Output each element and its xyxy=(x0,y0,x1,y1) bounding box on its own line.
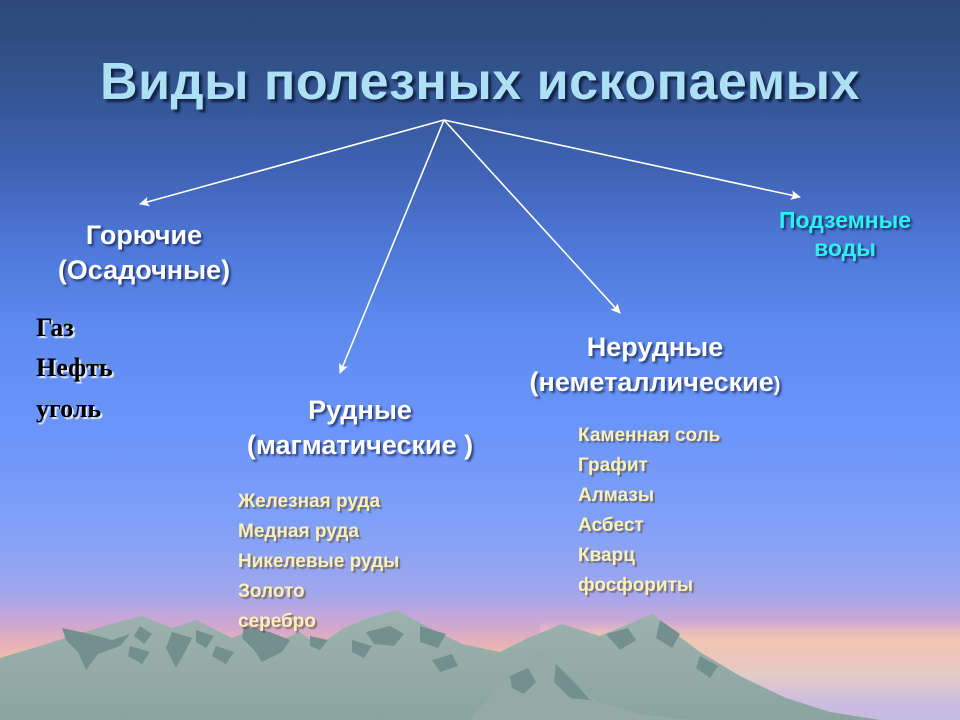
list-item: серебро xyxy=(238,607,399,637)
list-item: Никелевые руды xyxy=(238,547,399,577)
branch-heading-fuel-line2: (Осадочные) xyxy=(14,253,274,288)
branch-heading-nonore: Нерудные (неметаллические) xyxy=(490,330,820,399)
arrow-to-water xyxy=(444,120,800,197)
arrow-to-nonore xyxy=(444,120,620,313)
branch-heading-ore-line2: (магматические ) xyxy=(200,428,520,463)
branch-heading-fuel-line1: Горючие xyxy=(14,218,274,253)
list-item: Кварц xyxy=(578,541,720,571)
list-item: уголь xyxy=(36,389,113,429)
slide-title: Виды полезных ископаемых xyxy=(0,52,960,112)
branch-items-fuel: Газ Нефть уголь xyxy=(36,308,113,429)
branch-heading-nonore-line1: Нерудные xyxy=(490,330,820,365)
branch-heading-ore-line1: Рудные xyxy=(200,393,520,428)
arrow-to-fuel xyxy=(140,120,444,204)
list-item: Асбест xyxy=(578,511,720,541)
branch-heading-fuel: Горючие (Осадочные) xyxy=(14,218,274,287)
branch-heading-groundwater-line2: воды xyxy=(740,235,950,263)
list-item: Каменная соль xyxy=(578,421,720,451)
branch-heading-nonore-paren: ) xyxy=(774,374,781,396)
list-item: Медная руда xyxy=(238,517,399,547)
branch-items-nonore: Каменная соль Графит Алмазы Асбест Кварц… xyxy=(578,421,720,601)
branch-heading-nonore-line2: (неметаллические) xyxy=(490,365,820,400)
branch-heading-groundwater: Подземные воды xyxy=(740,207,950,262)
mountain-range-illustration xyxy=(0,590,960,720)
list-item: Графит xyxy=(578,451,720,481)
branch-heading-nonore-line2-text: (неметаллические xyxy=(530,367,774,397)
list-item: фосфориты xyxy=(578,571,720,601)
list-item: Золото xyxy=(238,577,399,607)
branch-heading-groundwater-line1: Подземные xyxy=(740,207,950,235)
list-item: Газ xyxy=(36,308,113,348)
list-item: Нефть xyxy=(36,348,113,388)
list-item: Железная руда xyxy=(238,487,399,517)
slide-canvas: Виды полезных ископаемых Горючие (Осадоч… xyxy=(0,0,960,720)
branch-items-ore: Железная руда Медная руда Никелевые руды… xyxy=(238,487,399,637)
arrow-to-ore xyxy=(340,120,444,373)
branch-heading-ore: Рудные (магматические ) xyxy=(200,393,520,462)
list-item: Алмазы xyxy=(578,481,720,511)
